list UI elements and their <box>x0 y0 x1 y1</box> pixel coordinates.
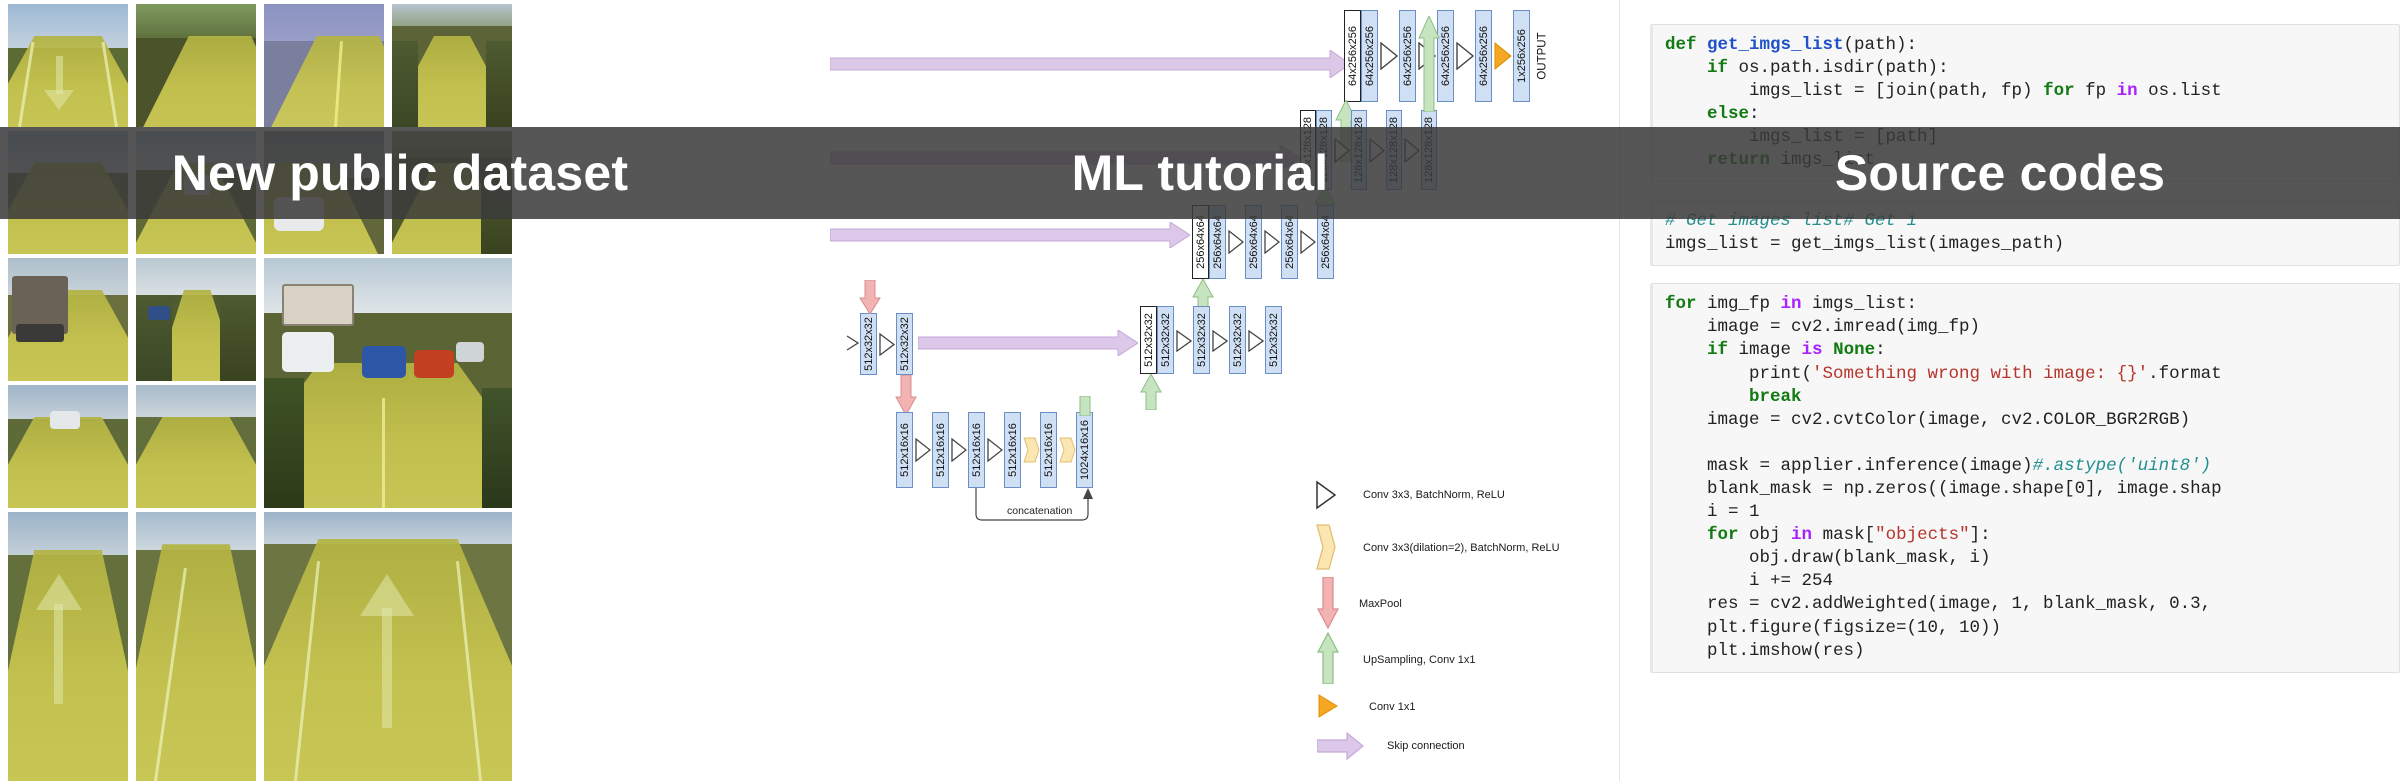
conv-triangle-icon <box>915 438 931 467</box>
lane-arrow-icon <box>382 608 392 728</box>
dataset-photo <box>136 512 256 781</box>
skip-connection-arrow <box>830 222 1190 253</box>
vehicle <box>414 350 454 378</box>
conv-triangle-icon <box>1212 330 1228 357</box>
unet-architecture-diagram: 64x256x256 64x256x256 64x256x256 64x256x… <box>810 0 1620 781</box>
legend-label: Conv 3x3, BatchNorm, ReLU <box>1363 489 1505 501</box>
net-block: 512x16x16 <box>1004 412 1021 488</box>
net-output-label: OUTPUT <box>1532 10 1554 102</box>
conv-triangle-icon <box>1176 330 1192 357</box>
legend-label: MaxPool <box>1359 598 1402 610</box>
code-cell-content[interactable]: for img_fp in imgs_list: image = cv2.imr… <box>1650 283 2400 673</box>
net-block: 512x32x32 <box>1140 306 1157 374</box>
input-marker-icon <box>846 334 860 357</box>
net-block: 64x256x256 <box>1475 10 1492 102</box>
diagram-legend: Conv 3x3, BatchNorm, ReLU Conv 3x3(dilat… <box>1315 480 1615 760</box>
vehicle <box>148 306 170 320</box>
legend-item-skip-connection <box>1317 732 1365 765</box>
vehicle <box>362 346 406 378</box>
dataset-photo <box>136 385 256 508</box>
net-block: 512x32x32 <box>860 313 877 375</box>
conv-triangle-icon <box>987 438 1003 467</box>
net-block: 64x256x256 <box>1361 10 1378 102</box>
vehicle <box>50 411 80 429</box>
net-block: 1x256x256 <box>1513 10 1530 102</box>
conv-triangle-icon <box>1248 330 1264 357</box>
legend-item-conv1x1 <box>1317 693 1339 724</box>
net-block: 512x16x16 <box>896 412 913 488</box>
concatenation-label: concatenation <box>1003 504 1076 518</box>
legend-item-dilated-conv <box>1315 523 1337 576</box>
conv-triangle-icon <box>1380 42 1398 75</box>
dataset-photo <box>392 4 512 127</box>
net-block: 512x16x16 <box>968 412 985 488</box>
banner-label-tutorial: ML tutorial <box>800 148 1600 198</box>
conv-triangle-icon <box>1228 230 1244 259</box>
legend-item-upsampling <box>1317 632 1339 689</box>
dilated-conv-triangle-icon <box>1023 436 1040 469</box>
dataset-photo <box>136 258 256 381</box>
dataset-photo <box>8 512 128 781</box>
net-block: 512x32x32 <box>1157 306 1174 374</box>
lane-arrow-icon <box>54 604 63 704</box>
legend-label: Skip connection <box>1387 740 1465 752</box>
net-block: 1024x16x16 <box>1076 412 1093 488</box>
conv-triangle-icon <box>951 438 967 467</box>
legend-label: UpSampling, Conv 1x1 <box>1363 654 1476 666</box>
dataset-photo <box>136 4 256 127</box>
upsample-arrow-icon <box>1418 16 1440 117</box>
legend-item-maxpool <box>1317 577 1339 634</box>
code-cell[interactable]: for img_fp in imgs_list: image = cv2.imr… <box>1650 283 2400 673</box>
dataset-photo <box>264 4 384 127</box>
upsample-arrow-icon <box>1140 374 1162 415</box>
billboard <box>282 284 354 326</box>
net-block: 512x32x32 <box>1265 306 1282 374</box>
dataset-photo <box>264 512 512 781</box>
dataset-photo <box>8 258 128 381</box>
lane-arrow-icon <box>56 56 63 94</box>
conv1x1-orange-icon <box>1494 42 1512 75</box>
vehicle <box>282 332 334 372</box>
net-block: 64x256x256 <box>1399 10 1416 102</box>
legend-label: Conv 3x3(dilation=2), BatchNorm, ReLU <box>1363 542 1560 554</box>
dataset-image-mosaic <box>0 0 810 781</box>
source-code-notebook: def get_imgs_list(path): if os.path.isdi… <box>1620 0 2400 781</box>
conv-triangle-icon <box>1456 42 1474 75</box>
skip-connection-arrow <box>830 50 1350 83</box>
dataset-photo <box>8 385 128 508</box>
conv-triangle-icon <box>879 333 895 361</box>
net-block: 64x256x256 <box>1344 10 1361 102</box>
legend-label: Conv 1x1 <box>1369 701 1415 713</box>
net-block: 512x16x16 <box>932 412 949 488</box>
skip-connection-arrow <box>918 330 1138 361</box>
net-block: 512x32x32 <box>896 313 913 375</box>
conv-triangle-icon <box>1300 230 1316 259</box>
dataset-photo <box>264 258 512 508</box>
net-block: 512x32x32 <box>1229 306 1246 374</box>
banner-label-source: Source codes <box>1600 148 2400 198</box>
conv-triangle-icon <box>1264 230 1280 259</box>
dataset-photo <box>8 4 128 127</box>
net-block: 512x16x16 <box>1040 412 1057 488</box>
legend-item-conv3x3 <box>1315 480 1337 515</box>
upsample-arrow-icon <box>1074 396 1096 421</box>
section-banner-overlay: New public dataset ML tutorial Source co… <box>0 127 2400 219</box>
maxpool-arrow-icon <box>859 280 881 319</box>
banner-label-dataset: New public dataset <box>0 148 800 198</box>
page-root: 64x256x256 64x256x256 64x256x256 64x256x… <box>0 0 2400 781</box>
dilated-conv-triangle-icon <box>1059 436 1076 469</box>
vehicle <box>456 342 484 362</box>
net-block: 512x32x32 <box>1193 306 1210 374</box>
